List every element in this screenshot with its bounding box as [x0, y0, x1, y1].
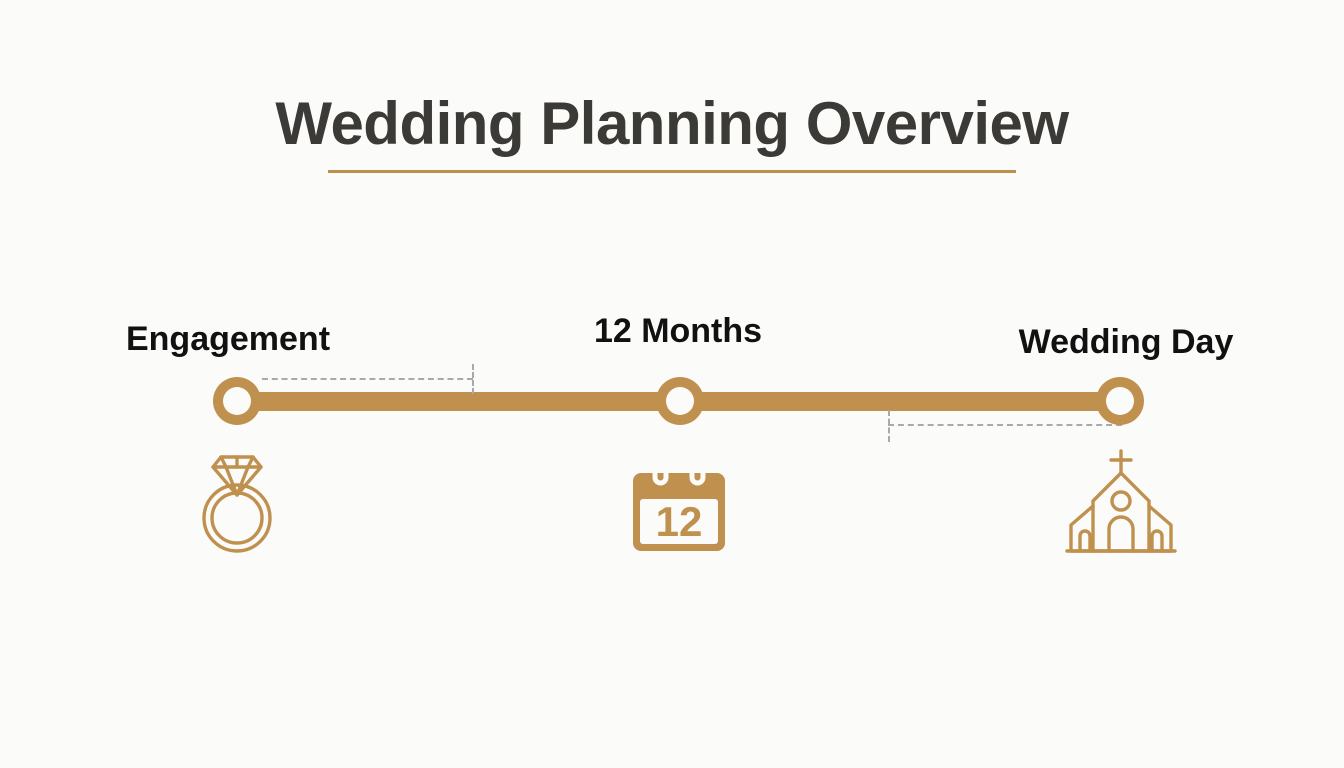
connector-dashed-tick-left: [472, 364, 474, 394]
church-icon: [1061, 443, 1181, 563]
diamond-ring-icon: [177, 443, 297, 563]
calendar-icon: 12: [619, 443, 739, 563]
timeline-node-12-months[interactable]: [656, 377, 704, 425]
connector-dashed-horizontal-left: [262, 378, 473, 380]
calendar-number: 12: [656, 498, 703, 545]
milestone-icon-wedding-day: [1061, 443, 1181, 563]
milestone-icon-engagement: [177, 443, 297, 563]
milestone-icon-12-months: 12: [619, 443, 739, 563]
timeline-node-engagement[interactable]: [213, 377, 261, 425]
connector-dashed-tick-right: [888, 410, 890, 442]
connector-dashed-horizontal-right: [888, 424, 1122, 426]
milestone-label-engagement: Engagement: [126, 320, 330, 359]
timeline: Engagement 12 Months Wedding Day: [0, 0, 1344, 768]
timeline-node-wedding-day[interactable]: [1096, 377, 1144, 425]
milestone-label-wedding-day: Wedding Day: [1019, 323, 1234, 362]
milestone-label-12-months: 12 Months: [594, 312, 762, 351]
wedding-planning-infographic: Wedding Planning Overview Engagement 12 …: [0, 0, 1344, 768]
